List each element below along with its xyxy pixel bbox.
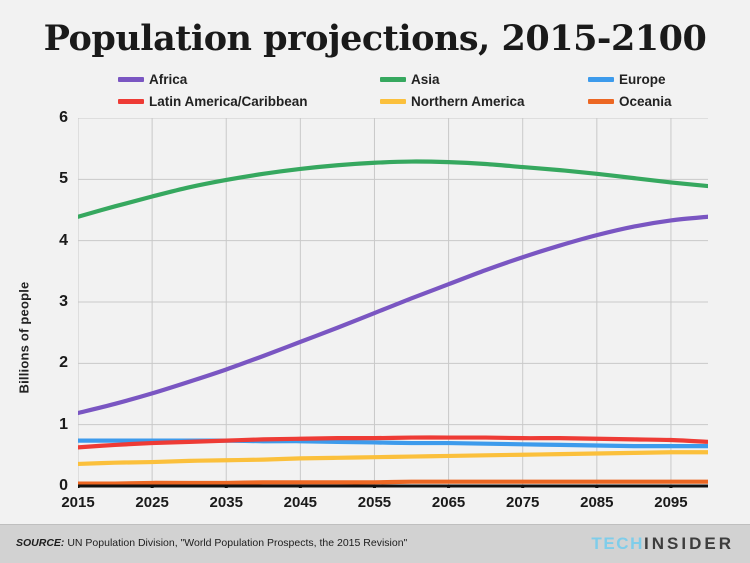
y-tick-label: 3	[42, 293, 68, 311]
y-tick-label: 2	[42, 354, 68, 372]
x-tick-label: 2095	[636, 494, 706, 511]
brand-logo: TECHINSIDER	[591, 534, 734, 554]
x-tick-label: 2055	[339, 494, 409, 511]
x-tick-label: 2015	[43, 494, 113, 511]
series-line	[78, 482, 708, 484]
y-axis-ticks: 0123456	[42, 118, 68, 486]
legend-label: Latin America/Caribbean	[149, 94, 308, 109]
legend-item[interactable]: Europe	[588, 72, 750, 87]
source-note: SOURCE: UN Population Division, "World P…	[16, 537, 407, 549]
y-tick-label: 5	[42, 170, 68, 188]
legend-swatch-icon	[588, 77, 614, 82]
legend-label: Europe	[619, 72, 666, 87]
legend-swatch-icon	[118, 99, 144, 104]
y-tick-label: 0	[42, 477, 68, 495]
plot-area: Billions of people 0123456 2015202520352…	[0, 118, 750, 518]
series-line	[78, 217, 708, 413]
footer-bar: SOURCE: UN Population Division, "World P…	[0, 524, 750, 563]
legend-item[interactable]: Latin America/Caribbean	[118, 94, 380, 109]
legend-item[interactable]: Northern America	[380, 94, 588, 109]
x-tick-label: 2045	[265, 494, 335, 511]
source-body: UN Population Division, "World Populatio…	[64, 537, 407, 549]
x-tick-label: 2035	[191, 494, 261, 511]
legend-swatch-icon	[380, 99, 406, 104]
series-line	[78, 162, 708, 217]
chart-legend: AfricaAsiaEuropeLatin America/CaribbeanN…	[118, 68, 750, 112]
y-tick-label: 4	[42, 232, 68, 250]
legend-item[interactable]: Oceania	[588, 94, 750, 109]
legend-label: Asia	[411, 72, 440, 87]
legend-label: Oceania	[619, 94, 672, 109]
series-line	[78, 452, 708, 464]
legend-swatch-icon	[118, 77, 144, 82]
brand-tech-text: TECH	[591, 534, 644, 553]
x-tick-label: 2065	[414, 494, 484, 511]
legend-swatch-icon	[588, 99, 614, 104]
legend-label: Northern America	[411, 94, 525, 109]
x-tick-label: 2085	[562, 494, 632, 511]
chart-page: Population projections, 2015-2100 Africa…	[0, 0, 750, 563]
legend-item[interactable]: Africa	[118, 72, 380, 87]
page-title: Population projections, 2015-2100	[0, 18, 750, 59]
y-axis-title: Billions of people	[17, 238, 32, 438]
source-label: SOURCE:	[16, 537, 64, 549]
y-tick-label: 6	[42, 109, 68, 127]
legend-swatch-icon	[380, 77, 406, 82]
chart-svg	[78, 118, 708, 488]
brand-insider-text: INSIDER	[644, 534, 734, 553]
legend-item[interactable]: Asia	[380, 72, 588, 87]
x-tick-label: 2025	[117, 494, 187, 511]
legend-label: Africa	[149, 72, 187, 87]
x-tick-label: 2075	[488, 494, 558, 511]
y-tick-label: 1	[42, 416, 68, 434]
